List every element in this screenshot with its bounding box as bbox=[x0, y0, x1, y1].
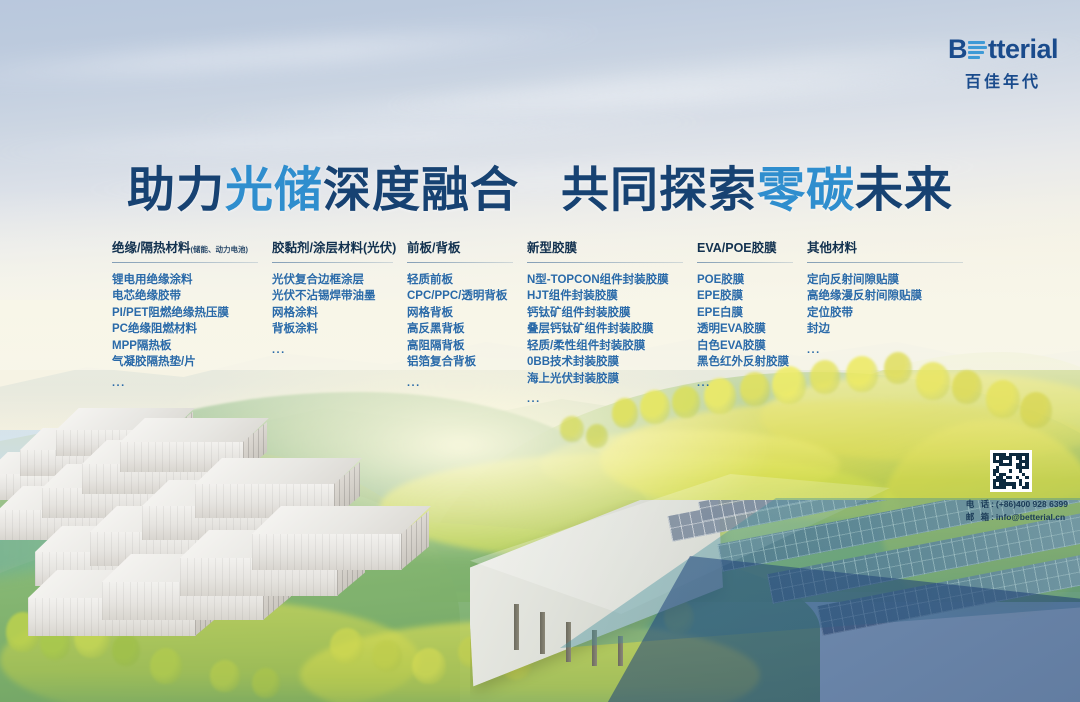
category-title-main: 新型胶膜 bbox=[527, 241, 577, 255]
headline-segment-1: 助力 bbox=[127, 164, 225, 217]
list-item: 钙钛矿组件封装胶膜 bbox=[527, 305, 697, 322]
list-item: 光伏不沾锡焊带油墨 bbox=[272, 288, 407, 305]
contact-email: 邮 箱:info@betterial.cn bbox=[966, 511, 1068, 524]
category-item-list: 定向反射间隙贴膜高绝缘漫反射间隙贴膜定位胶带封边 bbox=[807, 272, 977, 338]
contact-phone-label: 电 话: bbox=[966, 499, 996, 509]
list-item: 高阻隔背板 bbox=[407, 338, 527, 355]
list-item: 网格涂料 bbox=[272, 305, 407, 322]
headline-segment-4: 未来 bbox=[855, 164, 953, 217]
tree-clump bbox=[586, 424, 608, 448]
list-item: EPE白膜 bbox=[697, 305, 807, 322]
page-title: 助力光储深度融合共同探索零碳未来 bbox=[0, 150, 1080, 220]
category-column: 前板/背板轻质前板CPC/PPC/透明背板网格背板高反黑背板高阻隔背板铝箔复合背… bbox=[407, 242, 527, 389]
list-item: 高反黑背板 bbox=[407, 321, 527, 338]
logo-bars-icon bbox=[968, 39, 987, 60]
list-item: 定位胶带 bbox=[807, 305, 977, 322]
category-more-indicator: ... bbox=[112, 377, 272, 389]
category-title: 新型胶膜 bbox=[527, 242, 697, 256]
list-item: MPP隔热板 bbox=[112, 338, 272, 355]
list-item: POE胶膜 bbox=[697, 272, 807, 289]
category-divider bbox=[807, 262, 963, 263]
headline-highlight-1: 光储 bbox=[225, 164, 323, 217]
category-column: 新型胶膜N型-TOPCON组件封装胶膜HJT组件封装胶膜钙钛矿组件封装胶膜叠层钙… bbox=[527, 242, 697, 405]
category-title-main: 胶黏剂/涂层材料(光伏) bbox=[272, 241, 396, 255]
category-title: EVA/POE胶膜 bbox=[697, 242, 807, 256]
logo-chinese-name: 百佳年代 bbox=[948, 68, 1058, 92]
list-item: 电芯绝缘胶带 bbox=[112, 288, 272, 305]
tree-clump bbox=[210, 660, 240, 692]
list-item: 透明EVA胶膜 bbox=[697, 321, 807, 338]
category-item-list: POE胶膜EPE胶膜EPE白膜透明EVA胶膜白色EVA胶膜黑色红外反射胶膜 bbox=[697, 272, 807, 371]
storage-container bbox=[252, 506, 430, 570]
list-item: 0BB技术封装胶膜 bbox=[527, 354, 697, 371]
list-item: 封边 bbox=[807, 321, 977, 338]
contact-email-label: 邮 箱: bbox=[966, 512, 996, 522]
list-item: 轻质/柔性组件封装胶膜 bbox=[527, 338, 697, 355]
list-item: 定向反射间隙贴膜 bbox=[807, 272, 977, 289]
list-item: 气凝胶隔热垫/片 bbox=[112, 354, 272, 371]
category-more-indicator: ... bbox=[527, 393, 697, 405]
category-column: 其他材料定向反射间隙贴膜高绝缘漫反射间隙贴膜定位胶带封边... bbox=[807, 242, 977, 356]
tree-clump bbox=[1020, 392, 1052, 428]
qr-code-icon[interactable] bbox=[990, 450, 1032, 492]
solar-support-leg bbox=[540, 612, 545, 654]
solar-support-leg bbox=[592, 630, 597, 666]
category-more-indicator: ... bbox=[807, 344, 977, 356]
tree-clump bbox=[252, 668, 280, 698]
category-title-main: EVA/POE胶膜 bbox=[697, 241, 777, 255]
list-item: CPC/PPC/透明背板 bbox=[407, 288, 527, 305]
tree-clump bbox=[560, 416, 584, 442]
category-item-list: 锂电用绝缘涂料电芯绝缘胶带PI/PET阻燃绝缘热压膜PC绝缘阻燃材料MPP隔热板… bbox=[112, 272, 272, 371]
solar-support-leg bbox=[514, 604, 519, 650]
list-item: HJT组件封装胶膜 bbox=[527, 288, 697, 305]
list-item: 轻质前板 bbox=[407, 272, 527, 289]
list-item: 高绝缘漫反射间隙贴膜 bbox=[807, 288, 977, 305]
brand-logo[interactable]: B tterial 百佳年代 bbox=[948, 36, 1058, 92]
category-column: 胶黏剂/涂层材料(光伏)光伏复合边框涂层光伏不沾锡焊带油墨网格涂料背板涂料... bbox=[272, 242, 407, 356]
solar-support-leg bbox=[566, 622, 571, 662]
category-column: EVA/POE胶膜POE胶膜EPE胶膜EPE白膜透明EVA胶膜白色EVA胶膜黑色… bbox=[697, 242, 807, 389]
logo-wordmark: B tterial bbox=[948, 36, 1058, 63]
solar-panel-array bbox=[470, 500, 1080, 702]
category-more-indicator: ... bbox=[272, 344, 407, 356]
list-item: EPE胶膜 bbox=[697, 288, 807, 305]
category-title-subtitle: (储能、动力电池) bbox=[190, 245, 248, 254]
battery-storage-containers bbox=[0, 414, 420, 664]
container-side bbox=[252, 534, 402, 570]
category-title-main: 其他材料 bbox=[807, 241, 857, 255]
category-divider bbox=[407, 262, 513, 263]
headline-segment-2: 深度融合 bbox=[323, 164, 519, 217]
category-divider bbox=[272, 262, 393, 263]
logo-letters-rest: tterial bbox=[988, 36, 1058, 63]
headline-segment-3: 共同探索 bbox=[561, 164, 757, 217]
product-category-columns: 绝缘/隔热材料(储能、动力电池)锂电用绝缘涂料电芯绝缘胶带PI/PET阻燃绝缘热… bbox=[112, 242, 1012, 405]
category-divider bbox=[527, 262, 683, 263]
category-item-list: 光伏复合边框涂层光伏不沾锡焊带油墨网格涂料背板涂料 bbox=[272, 272, 407, 338]
poster-canvas: B tterial 百佳年代 助力光储深度融合共同探索零碳未来 绝缘/隔热材料(… bbox=[0, 0, 1080, 702]
list-item: 叠层钙钛矿组件封装胶膜 bbox=[527, 321, 697, 338]
headline-highlight-2: 零碳 bbox=[757, 164, 855, 217]
logo-letter-b: B bbox=[948, 36, 967, 63]
contact-block: 电 话:(+86)400 928 6399 邮 箱:info@betterial… bbox=[966, 450, 1068, 524]
category-item-list: 轻质前板CPC/PPC/透明背板网格背板高反黑背板高阻隔背板铝箔复合背板 bbox=[407, 272, 527, 371]
list-item: 网格背板 bbox=[407, 305, 527, 322]
list-item: PI/PET阻燃绝缘热压膜 bbox=[112, 305, 272, 322]
category-item-list: N型-TOPCON组件封装胶膜HJT组件封装胶膜钙钛矿组件封装胶膜叠层钙钛矿组件… bbox=[527, 272, 697, 388]
category-title: 绝缘/隔热材料(储能、动力电池) bbox=[112, 242, 272, 256]
contact-email-value[interactable]: info@betterial.cn bbox=[996, 512, 1065, 522]
list-item: 背板涂料 bbox=[272, 321, 407, 338]
list-item: 黑色红外反射胶膜 bbox=[697, 354, 807, 371]
list-item: 白色EVA胶膜 bbox=[697, 338, 807, 355]
contact-phone: 电 话:(+86)400 928 6399 bbox=[966, 498, 1068, 511]
category-title: 其他材料 bbox=[807, 242, 977, 256]
list-item: PC绝缘阻燃材料 bbox=[112, 321, 272, 338]
contact-phone-value: (+86)400 928 6399 bbox=[996, 499, 1068, 509]
category-title-main: 前板/背板 bbox=[407, 241, 460, 255]
list-item: 海上光伏封装胶膜 bbox=[527, 371, 697, 388]
category-divider bbox=[697, 262, 793, 263]
contact-lines: 电 话:(+86)400 928 6399 邮 箱:info@betterial… bbox=[966, 498, 1068, 524]
category-title: 前板/背板 bbox=[407, 242, 527, 256]
list-item: N型-TOPCON组件封装胶膜 bbox=[527, 272, 697, 289]
category-more-indicator: ... bbox=[697, 377, 807, 389]
category-more-indicator: ... bbox=[407, 377, 527, 389]
list-item: 铝箔复合背板 bbox=[407, 354, 527, 371]
category-title-main: 绝缘/隔热材料 bbox=[112, 241, 190, 255]
solar-support-leg bbox=[618, 636, 623, 666]
category-column: 绝缘/隔热材料(储能、动力电池)锂电用绝缘涂料电芯绝缘胶带PI/PET阻燃绝缘热… bbox=[112, 242, 272, 389]
list-item: 锂电用绝缘涂料 bbox=[112, 272, 272, 289]
category-divider bbox=[112, 262, 258, 263]
list-item: 光伏复合边框涂层 bbox=[272, 272, 407, 289]
category-title: 胶黏剂/涂层材料(光伏) bbox=[272, 242, 407, 256]
